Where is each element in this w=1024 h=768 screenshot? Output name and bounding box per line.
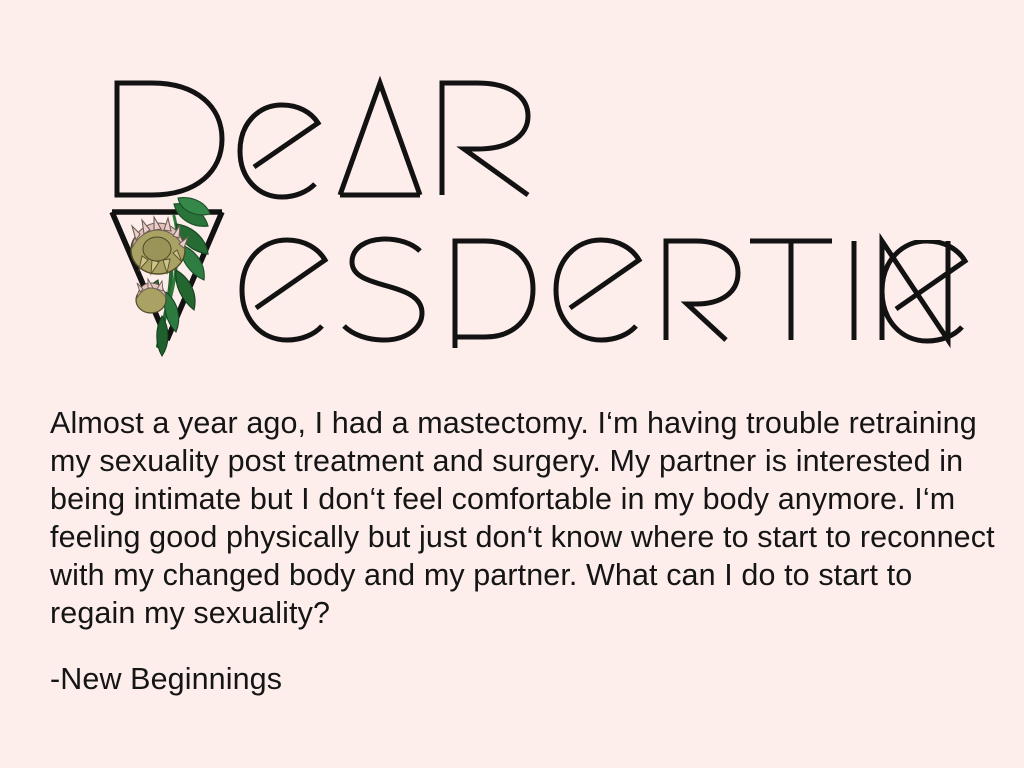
letter-block: Almost a year ago, I had a mastectomy. I… (50, 404, 998, 698)
masthead-vespertine-final-e (878, 240, 978, 350)
masthead: DEAR VESPERTINE (0, 0, 1024, 380)
letter-body-text: Almost a year ago, I had a mastectomy. I… (50, 404, 995, 632)
dear-vespertine-card: DEAR VESPERTINE (0, 0, 1024, 768)
masthead-line-dear: DEAR (112, 78, 532, 203)
masthead-line-vespertine: VESPERTINE (110, 200, 970, 350)
letter-signature: -New Beginnings (50, 660, 998, 698)
